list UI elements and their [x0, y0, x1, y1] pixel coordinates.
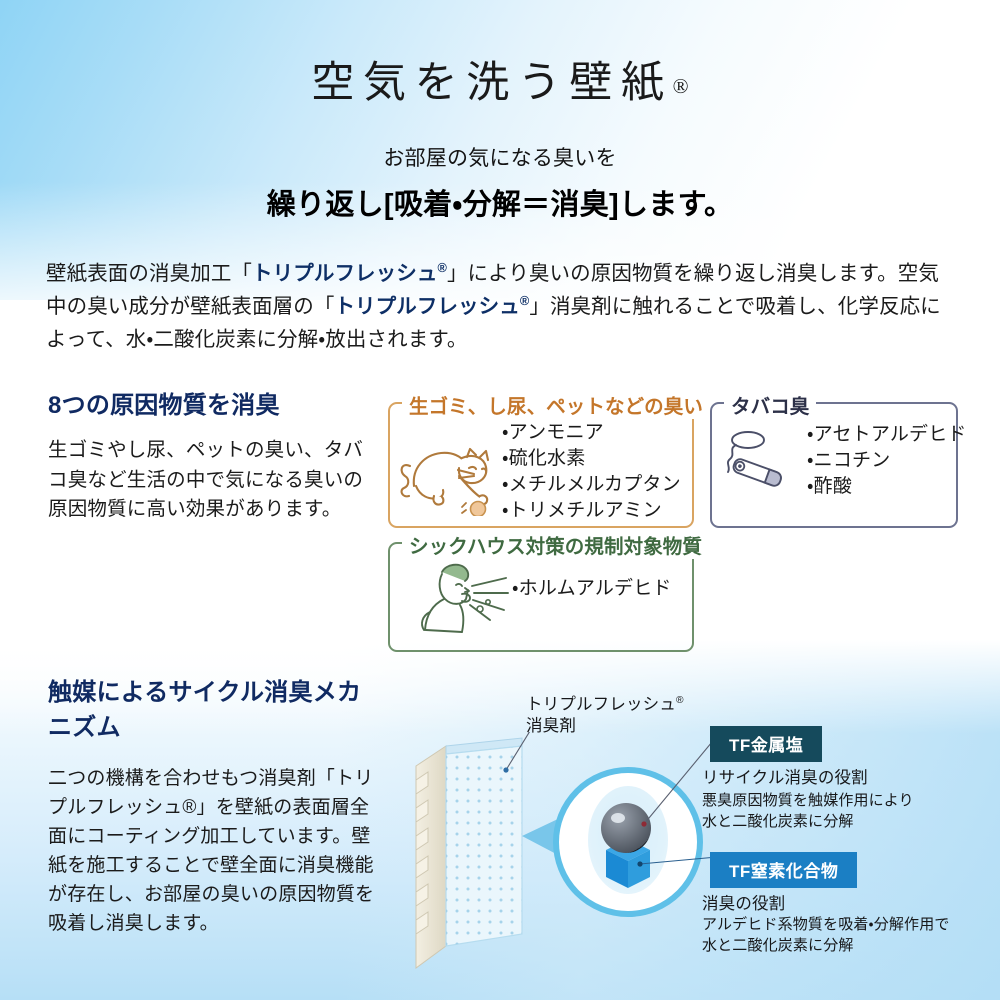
callout-desc-nitro-line1: アルデヒド系物質を吸着・分解作用で — [702, 916, 950, 933]
odor-box-pet-items: ・アンモニア ・硫化水素 ・メチルメルカプタン ・トリメチルアミン — [502, 420, 681, 524]
list-item: ・アセトアルデヒド — [807, 422, 967, 448]
triple-fresh-term-1: トリプルフレッシュ® — [252, 262, 447, 285]
callout-desc-nitro-line2: 水と二酸化炭素に分解 — [702, 937, 854, 954]
badge-tf-metal-salt: TF金属塩 — [710, 726, 822, 762]
mechanism-diagram: トリプルフレッシュ® 消臭剤 — [400, 684, 1000, 984]
mechanism-section-body: 二つの機構を合わせもつ消臭剤「トリプルフレッシュ®」を壁紙の表面層全面にコーティ… — [48, 764, 378, 938]
page-title-text: 空気を洗う壁紙 — [311, 60, 672, 107]
odor-box-tobacco-items: ・アセトアルデヒド ・ニコチン ・酢酸 — [807, 422, 967, 500]
list-item: ・硫化水素 — [502, 446, 681, 472]
callout-desc-metal-line1: 悪臭原因物質を触媒作用により — [702, 792, 914, 809]
odor-box-sickhouse-legend: シックハウス対策の規制対象物質 — [402, 530, 709, 559]
callout-title-metal-salt: リサイクル消臭の役割 — [702, 764, 868, 788]
product-label-reg: ® — [676, 695, 684, 706]
product-label-line1: トリプルフレッシュ — [526, 696, 676, 714]
registered-trademark-symbol: ® — [673, 74, 689, 98]
callout-desc-metal-line2: 水と二酸化炭素に分解 — [702, 813, 854, 830]
triple-fresh-term-1-reg: ® — [437, 260, 446, 275]
intro-part-1: 壁紙表面の消臭加工「 — [46, 262, 252, 285]
triple-fresh-term-1-text: トリプルフレッシュ — [252, 262, 437, 285]
odor-box-tobacco-legend: タバコ臭 — [724, 390, 816, 419]
callout-desc-metal-salt: 悪臭原因物質を触媒作用により 水と二酸化炭素に分解 — [702, 790, 914, 833]
list-item: ・メチルメルカプタン — [502, 472, 681, 498]
odor-box-sickhouse: シックハウス対策の規制対象物質 — [388, 542, 694, 652]
mechanism-text-column: 触媒によるサイクル消臭メカニズム 二つの機構を合わせもつ消臭剤「トリプルフレッシ… — [48, 672, 378, 938]
list-item: ・トリメチルアミン — [502, 498, 681, 524]
odor-box-tobacco: タバコ臭 ・ア — [710, 402, 958, 528]
list-item: ・酢酸 — [807, 474, 967, 500]
triple-fresh-term-2-reg: ® — [520, 293, 529, 308]
page-title: 空気を洗う壁紙® — [0, 0, 1000, 110]
cigarette-illustration — [720, 426, 806, 511]
odor-box-sickhouse-items: ・ホルムアルデヒド — [512, 576, 672, 602]
triple-fresh-term-2-text: トリプルフレッシュ — [334, 295, 519, 318]
mechanism-section-heading: 触媒によるサイクル消臭メカニズム — [48, 672, 378, 742]
odor-section-body: 生ゴミやし尿、ペットの臭い、タバコ臭など生活の中で気になる臭いの原因物質に高い効… — [48, 436, 368, 525]
list-item: ・ホルムアルデヒド — [512, 576, 672, 602]
odor-section-heading: 8つの原因物質を消臭 — [48, 385, 368, 420]
callout-desc-nitrogen-compound: アルデヒド系物質を吸着・分解作用で 水と二酸化炭素に分解 — [702, 914, 950, 957]
cat-illustration — [396, 424, 500, 521]
badge-tf-nitrogen-compound: TF窒素化合物 — [710, 852, 857, 888]
list-item: ・ニコチン — [807, 448, 967, 474]
odor-section-text-column: 8つの原因物質を消臭 生ゴミやし尿、ペットの臭い、タバコ臭など生活の中で気になる… — [48, 385, 368, 525]
sneezing-person-illustration — [402, 560, 514, 647]
triple-fresh-term-2: トリプルフレッシュ® — [334, 295, 529, 318]
intro-paragraph: 壁紙表面の消臭加工「トリプルフレッシュ®」により臭いの原因物質を繰り返し消臭しま… — [46, 257, 954, 357]
lead-subtitle: お部屋の気になる臭いを — [0, 142, 1000, 172]
lead-headline: 繰り返し[吸着・分解＝消臭]します。 — [0, 181, 1000, 223]
odor-box-pet-legend: 生ゴミ、し尿、ペットなどの臭い — [402, 390, 710, 419]
wallpaper-cross-section-graphic — [410, 732, 740, 992]
odor-box-pet: 生ゴミ、し尿、ペットなどの臭い — [388, 402, 694, 528]
callout-title-nitrogen-compound: 消臭の役割 — [702, 890, 785, 914]
list-item: ・アンモニア — [502, 420, 681, 446]
